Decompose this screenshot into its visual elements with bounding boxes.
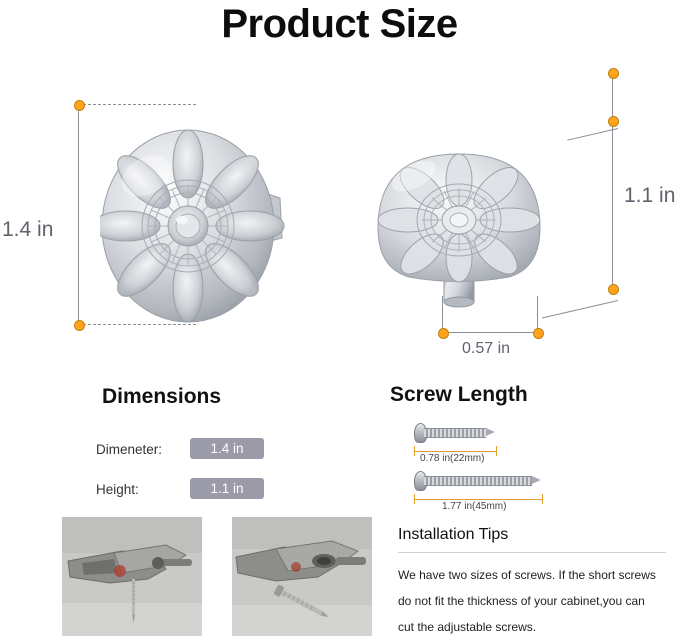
dimension-row-value-1: 1.1 in	[190, 478, 264, 499]
screw-caption-long: 1.77 in(45mm)	[442, 501, 506, 512]
knob-front-view	[100, 128, 290, 328]
dimension-row-label-1: Height:	[96, 482, 139, 497]
left-bottom-tick	[78, 324, 196, 325]
right-bottom-leader	[542, 300, 618, 319]
screw-caption-short: 0.78 in(22mm)	[420, 453, 484, 464]
right-height-label: 1.1 in	[624, 184, 675, 208]
screw-tip-long	[532, 476, 541, 484]
left-top-tick	[78, 104, 196, 105]
base-width-label: 0.57 in	[462, 340, 510, 358]
installation-tips-heading: Installation Tips	[398, 526, 508, 544]
base-right-dot	[533, 328, 544, 339]
dimensions-heading: Dimensions	[102, 385, 221, 409]
left-height-label: 1.4 in	[2, 218, 53, 242]
installation-tips-body: We have two sizes of screws. If the shor…	[398, 562, 670, 640]
left-bottom-dot	[74, 320, 85, 331]
right-mid-dot	[608, 116, 619, 127]
screw-dim-end-left-short	[414, 446, 415, 456]
left-top-dot	[74, 100, 85, 111]
base-width-guide	[442, 332, 538, 333]
right-bottom-dot	[608, 284, 619, 295]
page-title: Product Size	[0, 2, 679, 47]
screw-shaft-long	[424, 476, 532, 486]
screw-dim-line-short	[414, 451, 496, 452]
photo-pliers-screw-right	[232, 517, 372, 636]
screw-tip-short	[486, 428, 495, 436]
left-height-guide	[78, 104, 79, 326]
screw-shaft-short	[424, 428, 486, 438]
right-top-leader	[567, 128, 618, 141]
dimension-row-value-0: 1.4 in	[190, 438, 264, 459]
dimension-row-label-0: Dimeneter:	[96, 442, 162, 457]
right-top-dot	[608, 68, 619, 79]
screw-dim-line-long	[414, 499, 542, 500]
tips-line-3: cut the adjustable screws.	[398, 614, 670, 640]
product-size-infographic: Product Size	[0, 0, 679, 636]
screw-dim-end-right-short	[496, 446, 497, 456]
tips-line-2: do not fit the thickness of your cabinet…	[398, 588, 670, 614]
photo-pliers-screw-left	[62, 517, 202, 636]
screw-dim-end-left-long	[414, 494, 415, 504]
screw-dim-end-right-long	[542, 494, 543, 504]
tips-divider	[398, 552, 666, 553]
knob-side-view	[374, 136, 544, 311]
screw-length-heading: Screw Length	[390, 383, 528, 407]
tips-line-1: We have two sizes of screws. If the shor…	[398, 562, 670, 588]
right-height-guide	[612, 72, 613, 290]
base-left-dot	[438, 328, 449, 339]
